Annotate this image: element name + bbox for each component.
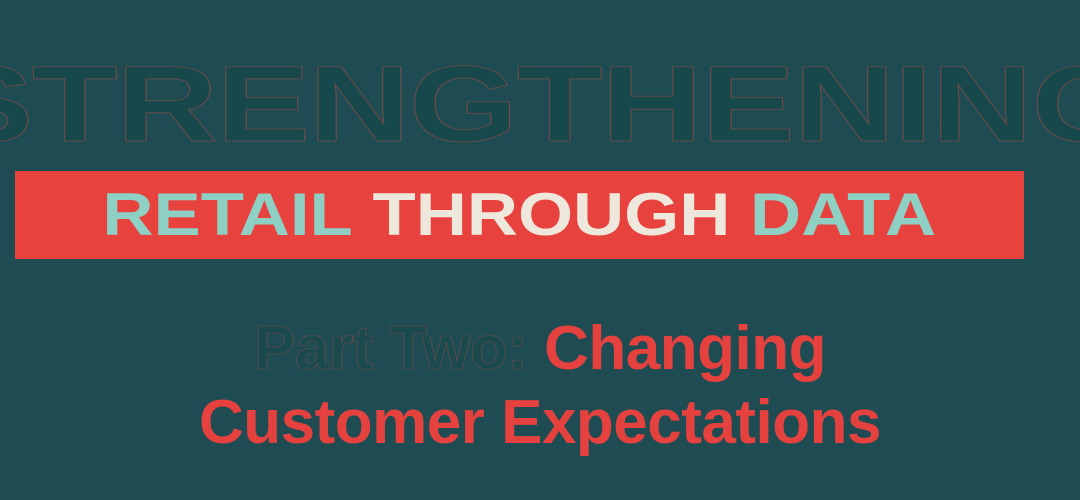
red-banner: RETAIL THROUGH DATA [15,171,1024,259]
banner-word-through: THROUGH [373,181,731,248]
banner-word-data: DATA [750,181,936,248]
subtitle-part-label: Part Two: [254,314,527,383]
banner-space-1 [353,181,373,248]
subtitle-space [527,314,544,383]
headline-strengthening: STRENGTHENING [0,50,1080,158]
headline-container: STRENGTHENING [0,48,1080,160]
banner-space-2 [731,181,751,248]
title-slide: STRENGTHENING RETAIL THROUGH DATA Part T… [0,0,1080,500]
subtitle-accent-changing: Changing [544,314,826,383]
subtitle-line-2: Customer Expectations [0,386,1080,460]
subtitle-line-1: Part Two: Changing [0,312,1080,386]
banner-text: RETAIL THROUGH DATA [103,185,937,245]
subtitle-block: Part Two: Changing Customer Expectations [0,312,1080,460]
banner-word-retail: RETAIL [103,181,353,248]
